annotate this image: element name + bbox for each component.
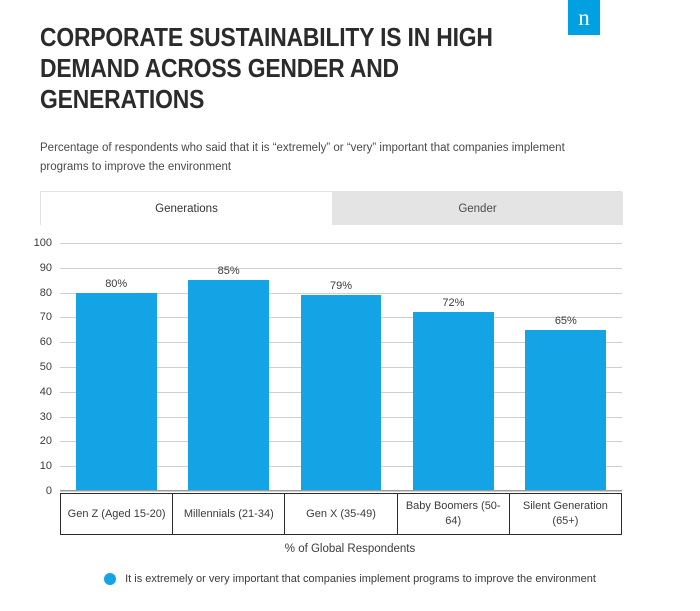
bar[interactable]	[413, 312, 494, 491]
legend-swatch-icon	[104, 573, 116, 585]
x-axis-title: % of Global Respondents	[0, 543, 700, 555]
bar[interactable]	[301, 295, 382, 491]
bar[interactable]	[188, 280, 269, 491]
y-axis-tick-label: 20	[40, 435, 52, 447]
bar-slot: 72%	[397, 243, 509, 491]
category-axis: Gen Z (Aged 15-20)Millennials (21-34)Gen…	[60, 493, 622, 535]
page-title: Corporate Sustainability Is In High Dema…	[40, 22, 506, 115]
tab-generations-label: Generations	[155, 203, 218, 215]
bar-value-label: 80%	[60, 278, 172, 290]
y-axis-tick-label: 0	[46, 485, 52, 497]
y-axis-tick-label: 90	[40, 262, 52, 274]
y-axis-tick-label: 30	[40, 411, 52, 423]
y-axis-tick-label: 40	[40, 386, 52, 398]
bar-slot: 80%	[60, 243, 172, 491]
bar-value-label: 72%	[397, 297, 509, 309]
plot-area: 0102030405060708090100 80%85%79%72%65%	[60, 243, 622, 491]
tab-generations[interactable]: Generations	[41, 192, 332, 225]
page-subtitle: Percentage of respondents who said that …	[40, 139, 585, 177]
chart-legend: It is extremely or very important that c…	[0, 573, 700, 585]
category-label: Gen Z (Aged 15-20)	[61, 494, 173, 534]
bar-value-label: 85%	[172, 265, 284, 277]
bar-slot: 79%	[285, 243, 397, 491]
y-axis-tick-label: 50	[40, 361, 52, 373]
bar-chart: 0102030405060708090100 80%85%79%72%65% G…	[0, 225, 700, 545]
bar-slot: 65%	[510, 243, 622, 491]
y-axis-tick-label: 10	[40, 460, 52, 472]
legend-label: It is extremely or very important that c…	[125, 573, 596, 585]
category-label: Silent Generation (65+)	[510, 494, 622, 534]
category-label: Gen X (35-49)	[285, 494, 397, 534]
bar[interactable]	[525, 330, 606, 491]
bar-series: 80%85%79%72%65%	[60, 243, 622, 491]
nielsen-logo-icon: n	[568, 0, 600, 35]
category-label: Baby Boomers (50-64)	[398, 494, 510, 534]
tab-gender[interactable]: Gender	[332, 192, 623, 225]
x-axis-line	[60, 490, 622, 491]
header: n Corporate Sustainability Is In High De…	[0, 0, 700, 177]
gridline: 0	[60, 491, 622, 492]
tab-bar: Generations Gender	[40, 191, 622, 225]
y-axis-tick-label: 80	[40, 287, 52, 299]
tab-gender-label: Gender	[458, 203, 496, 215]
y-axis-tick-label: 100	[34, 237, 52, 249]
bar-slot: 85%	[172, 243, 284, 491]
y-axis-tick-label: 60	[40, 336, 52, 348]
bar[interactable]	[76, 293, 157, 491]
bar-value-label: 65%	[510, 315, 622, 327]
category-label: Millennials (21-34)	[173, 494, 285, 534]
y-axis-tick-label: 70	[40, 311, 52, 323]
bar-value-label: 79%	[285, 280, 397, 292]
